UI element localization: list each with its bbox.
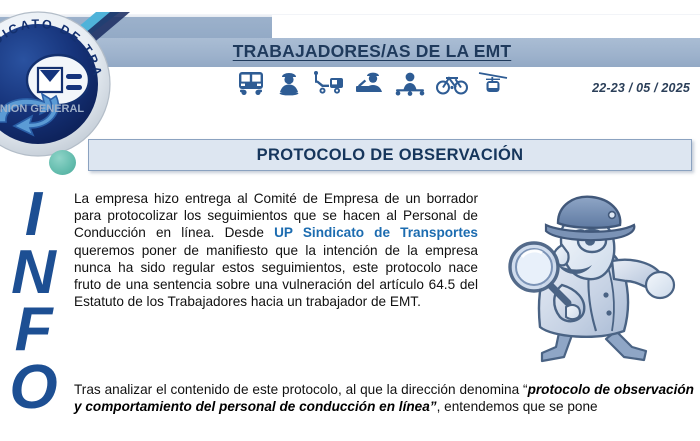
paragraph-intro-part2: queremos poner de manifiesto que la inte… [74,243,478,310]
bicycle-icon [433,74,475,91]
info-letter-i: I [2,186,64,244]
info-letter-o: O [2,359,64,417]
page-title: TRABAJADORES/AS DE LA EMT [0,41,700,62]
mechanic-worker-icon [273,74,309,91]
info-letter-f: F [2,301,64,359]
issue-date: 22-23 / 05 / 2025 [592,81,690,95]
bus-icon [233,74,273,91]
paragraph-analysis-part1: Tras analizar el contenido de este proto… [74,382,528,397]
paragraph-analysis-part2: , entendemos que se pone [437,399,598,414]
newsletter-page: SINDICATO DE TRANSPORTES UNION GENERAL I… [0,0,700,441]
info-letter-n: N [2,244,64,302]
cable-car-icon [475,74,511,91]
section-banner-title: PROTOCOLO DE OBSERVACIÓN [257,146,524,165]
office-worker-desk-icon [352,74,392,91]
decorative-teal-dot [49,150,76,175]
tow-truck-icon [310,74,352,91]
header-band-notch [272,15,700,39]
paragraph-analysis: Tras analizar el contenido de este proto… [74,381,694,415]
info-watermark: I N F O [2,186,64,417]
person-with-network-icon [392,74,432,91]
paragraph-intro: La empresa hizo entrega al Comité de Emp… [74,190,478,310]
detective-with-magnifying-glass [500,185,688,375]
section-banner: PROTOCOLO DE OBSERVACIÓN [88,139,692,171]
union-name-highlight: UP Sindicato de Transportes [274,225,478,240]
svg-text:UNION GENERAL: UNION GENERAL [0,103,84,115]
